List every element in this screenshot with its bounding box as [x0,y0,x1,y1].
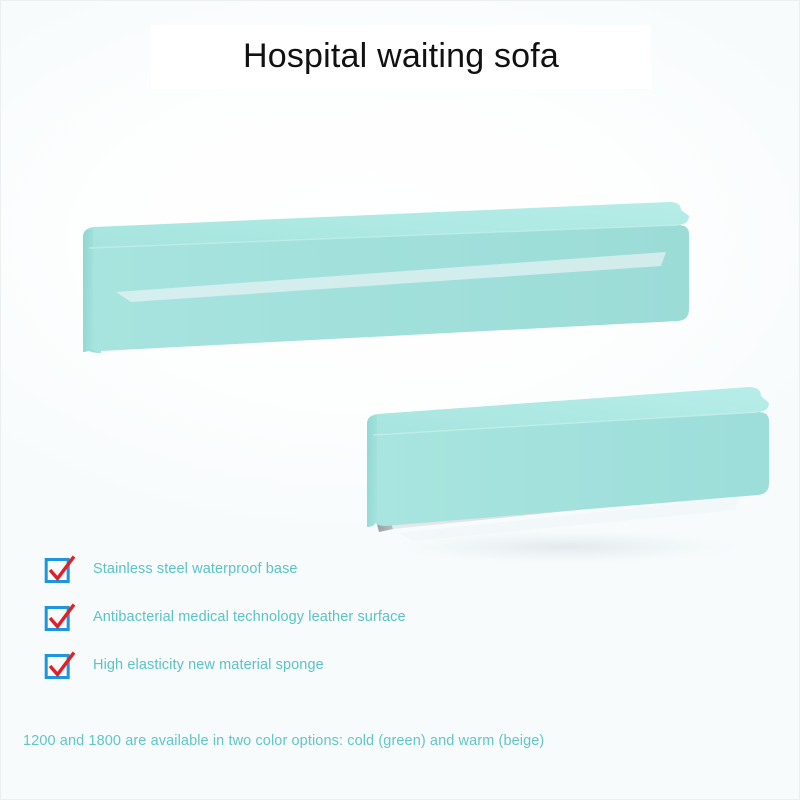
checkbox-checked-icon [43,649,77,681]
checkbox-checked-icon [43,601,77,633]
feature-label: Stainless steel waterproof base [93,559,298,579]
feature-item-stainless-base: Stainless steel waterproof base [43,553,463,585]
checkbox-checked-icon [43,553,77,585]
feature-label: High elasticity new material sponge [93,655,324,675]
product-render-small-bench [331,371,791,581]
page-title: Hospital waiting sofa [151,33,651,79]
size-color-caption: 1200 and 1800 are available in two color… [23,731,544,751]
large-bench-illustration [21,96,721,356]
feature-label: Antibacterial medical technology leather… [93,607,406,627]
feature-item-antibacterial-leather: Antibacterial medical technology leather… [43,601,463,633]
feature-item-elastic-sponge: High elasticity new material sponge [43,649,463,681]
cushion-end-panel [83,228,93,352]
small-bench-illustration [331,371,791,581]
cushion-end-face [367,415,377,527]
product-render-large-bench [21,96,721,356]
feature-list: Stainless steel waterproof base Antibact… [43,553,463,681]
product-image-canvas: Hospital waiting sofa [0,0,800,800]
